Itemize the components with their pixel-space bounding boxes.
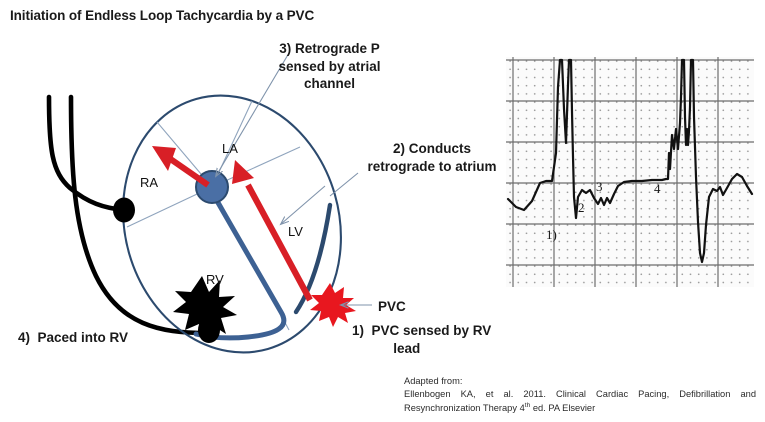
label-left-atrium: LA <box>222 141 238 157</box>
label-right-atrium: RA <box>140 175 158 191</box>
ecg-strip: 1) 2 3 4 <box>506 57 754 287</box>
ecg-annotation-2: 2 <box>578 200 585 215</box>
citation-body-2: ed. PA Elsevier <box>530 403 595 413</box>
callout-step-2: 2) Conducts retrograde to atrium <box>352 140 512 175</box>
label-pvc: PVC <box>378 299 406 315</box>
label-left-ventricle: LV <box>288 224 303 240</box>
av-node <box>196 171 228 203</box>
pointer-step2 <box>330 173 358 196</box>
callout-step-1: 1) PVC sensed by RV lead <box>352 322 504 357</box>
citation-heading: Adapted from: <box>404 375 756 388</box>
ecg-annotation-3: 3 <box>596 179 603 194</box>
slide-canvas: Initiation of Endless Loop Tachycardia b… <box>0 0 765 422</box>
label-right-ventricle: RV <box>206 272 224 288</box>
ra-lead-tip-electrode <box>113 198 135 223</box>
atrial-lead-wire <box>49 97 124 210</box>
callout-step-4: 4) Paced into RV <box>18 330 128 346</box>
citation: Adapted from:Ellenbogen KA, et al. 2011.… <box>404 375 756 415</box>
ecg-chart: 1) 2 3 4 <box>506 57 754 287</box>
pointer-lv <box>281 186 325 224</box>
retrograde-conduction-arrow-atrial <box>152 146 208 185</box>
callout-step-3: 3) Retrograde P sensed by atrial channel <box>262 40 397 93</box>
ecg-annotation-4: 4 <box>654 181 661 196</box>
ecg-annotation-1: 1) <box>546 227 557 242</box>
